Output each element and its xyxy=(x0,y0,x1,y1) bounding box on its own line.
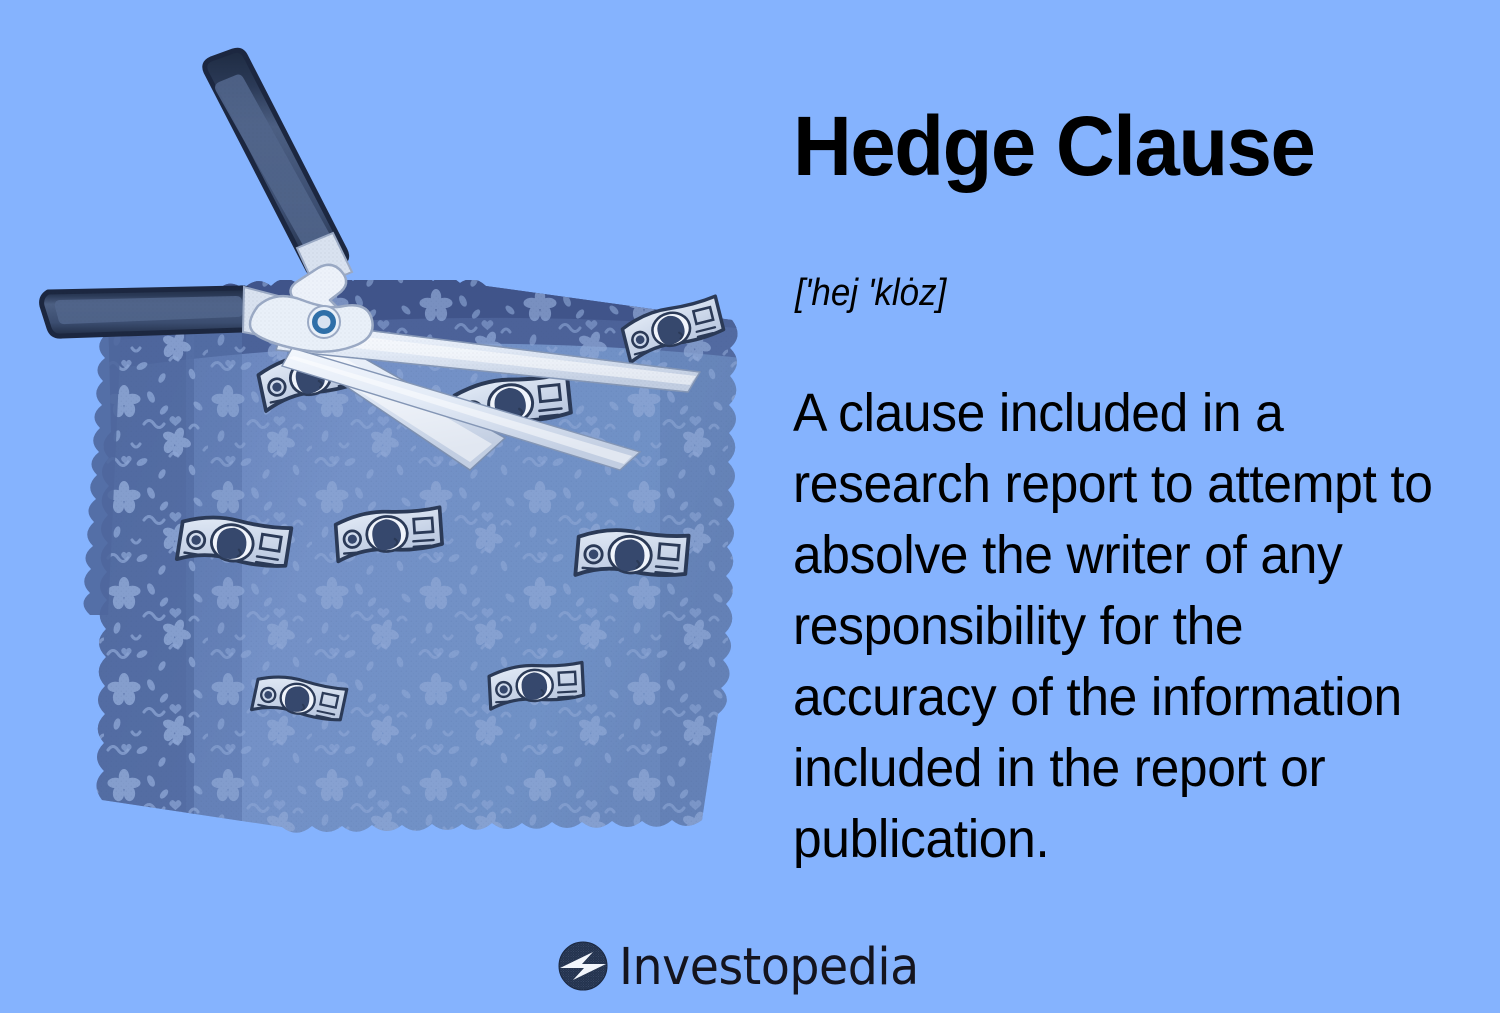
page-title: Hedge Clause xyxy=(793,104,1314,188)
definition-text: A clause included in a research report t… xyxy=(793,378,1452,875)
shear-handle-upper xyxy=(205,50,352,287)
brand-footer: Investopedia xyxy=(0,933,1500,999)
investopedia-term-card: Hedge Clause ['hej 'klȯz] A clause inclu… xyxy=(0,0,1500,1013)
brand-wordmark: Investopedia xyxy=(619,942,919,993)
investopedia-swoosh-icon xyxy=(558,941,608,991)
illustration-hedge-with-money-and-shears xyxy=(0,0,780,900)
term-text-column: Hedge Clause ['hej 'klȯz] A clause inclu… xyxy=(793,0,1473,900)
pronunciation-text: ['hej 'klȯz] xyxy=(795,272,946,315)
